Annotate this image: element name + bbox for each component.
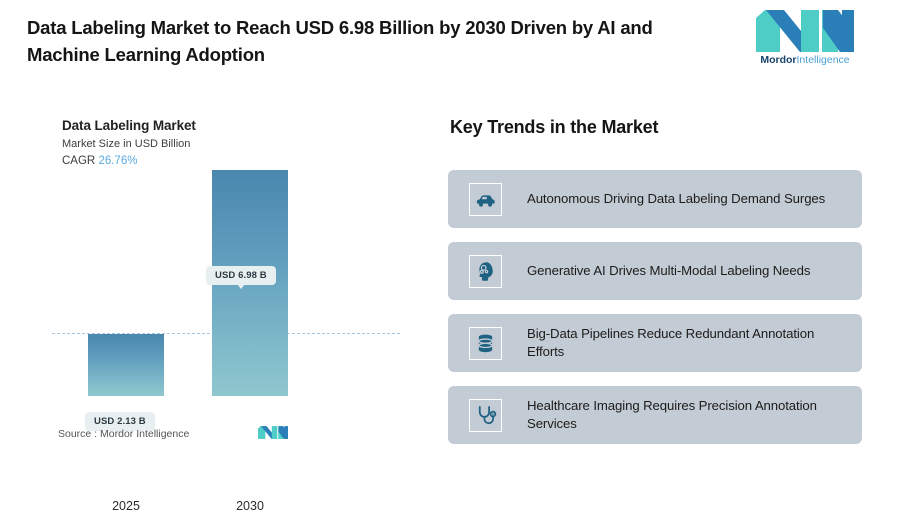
bar-label-2030: USD 6.98 B [206, 266, 276, 285]
car-icon [474, 188, 497, 211]
source-logo-icon [258, 425, 288, 440]
logo-mark-icon [756, 10, 854, 52]
x-axis-tick-2025: 2025 [71, 499, 181, 513]
trend-icon-frame [469, 183, 502, 216]
trend-label: Autonomous Driving Data Labeling Demand … [527, 190, 850, 208]
chart-source-text: Source : Mordor Intelligence [58, 428, 189, 440]
trend-label: Healthcare Imaging Requires Precision An… [527, 397, 850, 433]
trend-icon-frame [469, 255, 502, 288]
ai-brain-head-icon [474, 260, 497, 283]
page-header: Data Labeling Market to Reach USD 6.98 B… [0, 0, 907, 92]
bar-chart-plot: USD 2.13 B USD 6.98 B 2025 2030 [36, 100, 408, 458]
logo-wordmark: MordorIntelligence [752, 54, 858, 66]
trend-icon-frame [469, 327, 502, 360]
logo-word-light: Intelligence [797, 54, 850, 66]
trend-card-healthcare-imaging[interactable]: Healthcare Imaging Requires Precision An… [448, 386, 862, 444]
trend-label: Big-Data Pipelines Reduce Redundant Anno… [527, 325, 850, 361]
x-axis-tick-2030: 2030 [195, 499, 305, 513]
trends-heading: Key Trends in the Market [450, 117, 658, 138]
database-icon [475, 332, 496, 355]
mordor-intelligence-logo: MordorIntelligence [752, 10, 858, 72]
page-title: Data Labeling Market to Reach USD 6.98 B… [27, 15, 727, 69]
trend-label: Generative AI Drives Multi-Modal Labelin… [527, 262, 850, 280]
logo-word-bold: Mordor [760, 54, 796, 66]
trends-list: Autonomous Driving Data Labeling Demand … [448, 170, 862, 458]
bar-2025 [88, 334, 164, 396]
stethoscope-icon [475, 404, 497, 427]
trend-icon-frame [469, 399, 502, 432]
trend-card-generative-ai[interactable]: Generative AI Drives Multi-Modal Labelin… [448, 242, 862, 300]
trend-card-autonomous-driving[interactable]: Autonomous Driving Data Labeling Demand … [448, 170, 862, 228]
trend-card-big-data-pipelines[interactable]: Big-Data Pipelines Reduce Redundant Anno… [448, 314, 862, 372]
market-chart-panel: Data Labeling Market Market Size in USD … [36, 100, 408, 458]
